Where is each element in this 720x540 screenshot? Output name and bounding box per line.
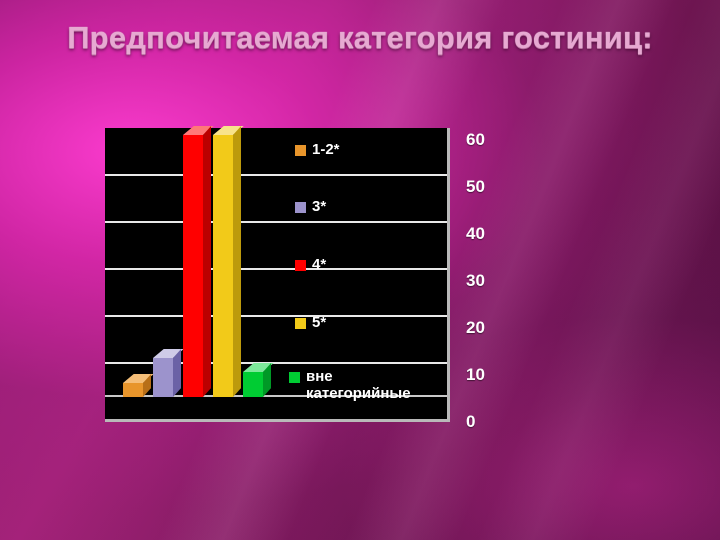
bars-group (105, 128, 285, 419)
legend-swatch-icon (295, 202, 306, 213)
bar-side-face (233, 126, 241, 397)
y-tick-label: 60 (466, 130, 485, 150)
y-tick-label: 40 (466, 224, 485, 244)
bar-5 (213, 135, 233, 397)
legend-label: 5* (312, 314, 326, 331)
y-axis: 60 50 40 30 20 10 0 (466, 128, 526, 428)
legend-item-4: 4* (295, 256, 326, 273)
legend-label: 4* (312, 256, 326, 273)
bar-side-face (203, 126, 211, 397)
legend-label: 1-2* (312, 141, 340, 158)
legend-swatch-icon (295, 260, 306, 271)
legend-swatch-icon (289, 372, 300, 383)
slide: Предпочитаемая категория гостиниц: (0, 0, 720, 540)
bar-front-face (153, 358, 173, 397)
y-tick-label: 30 (466, 271, 485, 291)
legend-swatch-icon (295, 145, 306, 156)
bar-front-face (243, 372, 263, 397)
bar-4 (183, 135, 203, 397)
bar-1-2 (123, 383, 143, 397)
legend-item-1-2: 1-2* (295, 141, 340, 158)
y-tick-label: 0 (466, 412, 475, 432)
legend-item-vne-kategoriynye: вне категорийные (289, 368, 411, 403)
legend-swatch-icon (295, 318, 306, 329)
bar-front-face (213, 135, 233, 397)
chart-legend: 1-2* 3* 4* 5* вне категорийные (275, 128, 450, 422)
legend-item-5: 5* (295, 314, 326, 331)
bar-side-face (173, 349, 181, 397)
bar-vne-kategoriynye (243, 372, 263, 397)
page-title: Предпочитаемая категория гостиниц: (50, 18, 670, 58)
y-tick-label: 50 (466, 177, 485, 197)
legend-label: вне категорийные (306, 368, 411, 403)
legend-label: 3* (312, 198, 326, 215)
bar-front-face (183, 135, 203, 397)
bar-front-face (123, 383, 143, 397)
legend-item-3: 3* (295, 198, 326, 215)
bar-3 (153, 358, 173, 397)
y-tick-label: 20 (466, 318, 485, 338)
y-tick-label: 10 (466, 365, 485, 385)
